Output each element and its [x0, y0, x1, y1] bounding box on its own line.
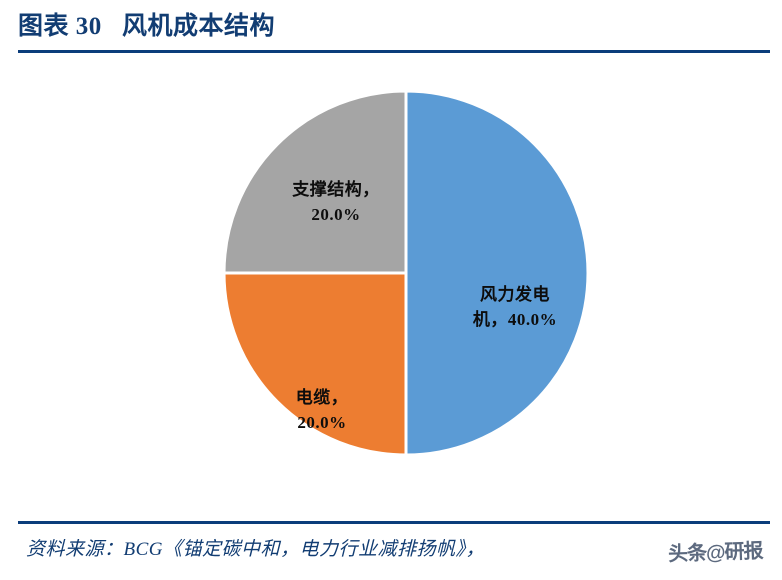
pie-label-support-structure: 支撑结构， 20.0%	[266, 178, 406, 227]
header-divider	[18, 50, 770, 53]
page-title: 图表 30 风机成本结构	[18, 6, 275, 42]
chart-header: 图表 30 风机成本结构	[0, 0, 782, 50]
watermark: 头条@研报	[668, 534, 763, 566]
pie-label-cable: 电缆， 20.0%	[262, 386, 382, 435]
pie-slice-wind-turbine[interactable]	[406, 91, 588, 455]
footer-divider	[18, 521, 770, 524]
source-note: 资料来源：BCG《锚定碳中和，电力行业减排扬帆》，	[26, 534, 485, 561]
pie-label-wind-turbine: 风力发电 机，40.0%	[440, 283, 590, 332]
pie-chart: 风力发电 机，40.0% 支撑结构， 20.0% 电缆， 20.0%	[0, 58, 782, 503]
